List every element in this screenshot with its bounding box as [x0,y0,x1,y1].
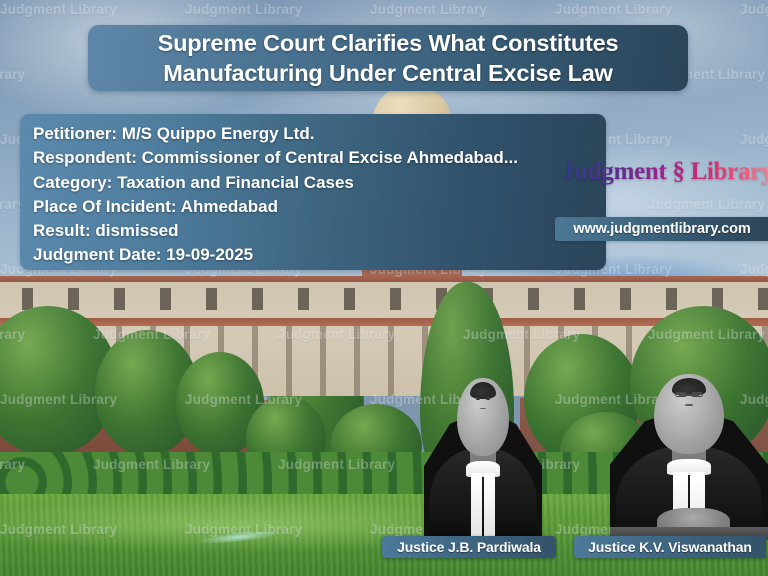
detail-judgment-date: Judgment Date: 19-09-2025 [33,243,606,267]
judge-portrait-viswanathan [610,360,768,540]
judge-name-label-viswanathan: Justice K.V. Viswanathan [574,536,766,558]
eye-left [476,397,481,399]
detail-place-of-incident: Place Of Incident: Ahmedabad [33,195,606,219]
eyeglasses-icon [675,392,703,398]
judicial-bands [470,461,496,540]
mouth [480,408,486,409]
judgment-poster: Judgment LibraryJudgment LibraryJudgment… [0,0,768,576]
face [457,378,509,455]
hair [470,382,496,399]
website-url-text: www.judgmentlibrary.com [573,221,750,237]
eye-right [486,397,491,399]
brand-logo[interactable]: Judgment § Library [562,158,768,186]
band-tab-right [484,473,495,540]
page-title: Supreme Court Clarifies What Constitutes… [88,25,688,91]
brand-logo-text: Judgment § Library [562,158,768,185]
detail-petitioner: Petitioner: M/S Quippo Energy Ltd. [33,122,606,146]
judge-name-text: Justice J.B. Pardiwala [397,539,541,555]
roof-cornice-lower [0,318,768,326]
detail-category: Category: Taxation and Financial Cases [33,171,606,195]
title-line-2: Manufacturing Under Central Excise Law [163,58,612,88]
face [654,374,724,453]
detail-respondent: Respondent: Commissioner of Central Exci… [33,146,606,170]
facade-window-row [0,288,768,310]
title-line-1: Supreme Court Clarifies What Constitutes [158,28,619,58]
band-tab-left [471,473,482,540]
website-url-badge[interactable]: www.judgmentlibrary.com [555,217,768,241]
judge-portrait-pardiwala [424,364,542,540]
judge-name-text: Justice K.V. Viswanathan [588,539,752,555]
detail-result: Result: dismissed [33,219,606,243]
mouth [685,404,693,405]
roof-cornice-upper [0,276,768,282]
judge-name-label-pardiwala: Justice J.B. Pardiwala [382,536,556,558]
case-details-panel: Petitioner: M/S Quippo Energy Ltd. Respo… [20,114,606,270]
